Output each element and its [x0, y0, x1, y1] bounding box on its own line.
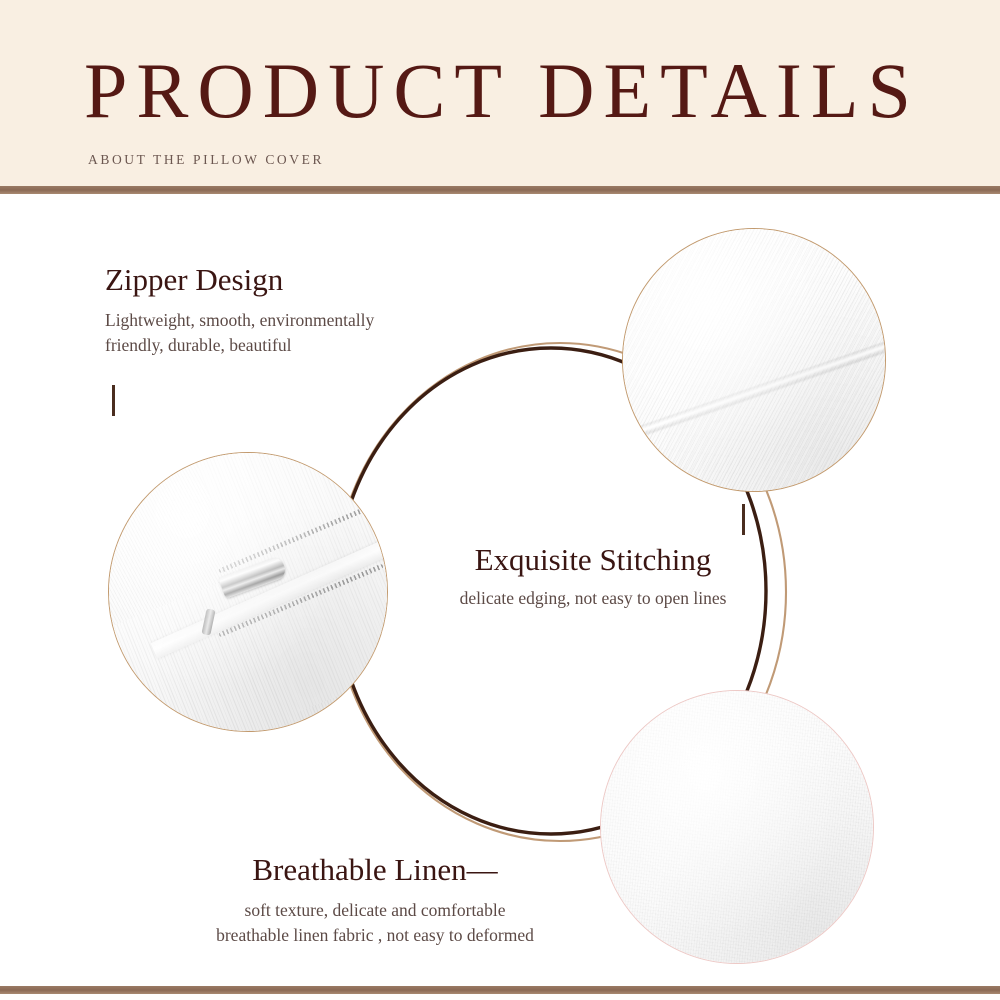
feature-linen-title: Breathable Linen — [252, 852, 466, 887]
zipper-closeup-photo — [108, 452, 388, 732]
feature-stitching-title: Exquisite Stitching — [418, 542, 768, 578]
photo-lighting-overlay — [109, 453, 387, 731]
feature-linen-dash-connector: — — [467, 852, 498, 887]
stitching-tick-marker — [742, 504, 745, 535]
feature-exquisite-stitching: Exquisite Stitching delicate edging, not… — [418, 542, 768, 611]
footer-divider-rule — [0, 986, 1000, 994]
photo-lighting-overlay — [601, 691, 873, 963]
page-title: PRODUCT DETAILS — [84, 48, 934, 134]
product-details-infographic: PRODUCT DETAILS ABOUT THE PILLOW COVER Z… — [0, 0, 1000, 1000]
feature-linen-desc-line1: soft texture, delicate and comfortable — [160, 898, 590, 923]
feature-zipper-desc-line1: Lightweight, smooth, environmentally — [105, 308, 374, 333]
feature-linen-desc-line2: breathable linen fabric , not easy to de… — [160, 923, 590, 948]
photo-lighting-overlay — [623, 229, 885, 491]
feature-breathable-linen: Breathable Linen— soft texture, delicate… — [160, 852, 590, 948]
feature-zipper-design: Zipper Design Lightweight, smooth, envir… — [105, 262, 374, 358]
linen-fabric-closeup-photo — [600, 690, 874, 964]
feature-zipper-title: Zipper Design — [105, 262, 374, 298]
stitching-closeup-photo — [622, 228, 886, 492]
feature-stitching-desc-line1: delicate edging, not easy to open lines — [418, 586, 768, 611]
feature-zipper-desc-line2: friendly, durable, beautiful — [105, 333, 374, 358]
header-divider-rule — [0, 186, 1000, 194]
page-subtitle: ABOUT THE PILLOW COVER — [88, 152, 324, 168]
feature-linen-title-row: Breathable Linen— — [160, 852, 590, 888]
zipper-tick-marker — [112, 385, 115, 416]
